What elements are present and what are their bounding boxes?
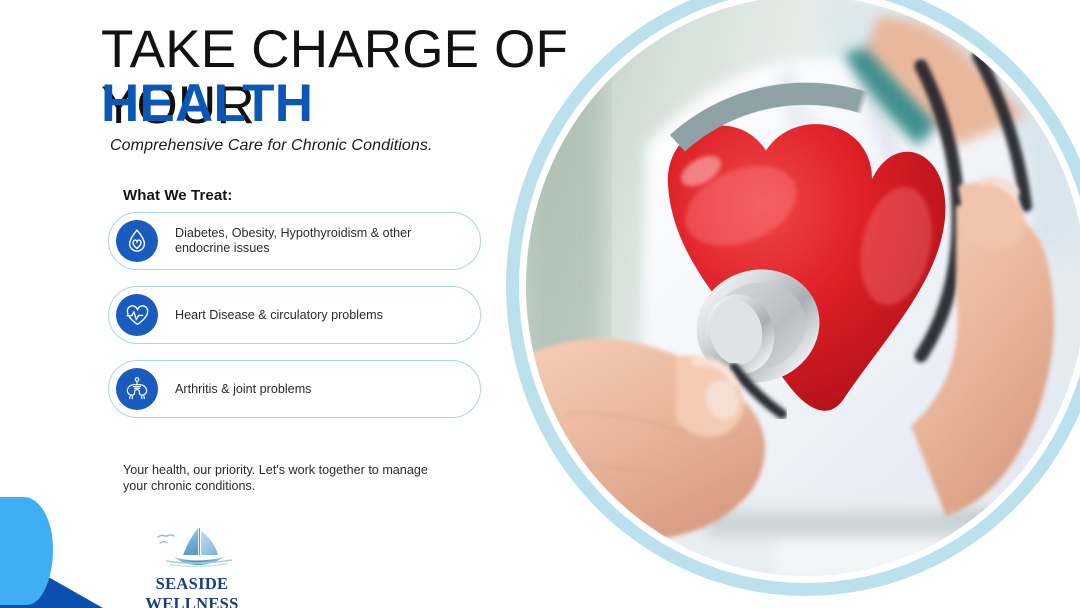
page-subtitle: Comprehensive Care for Chronic Condition… [110, 137, 433, 155]
page-title-line-2: HEALTH [101, 76, 313, 132]
list-item[interactable]: Diabetes, Obesity, Hypothyroidism & othe… [108, 212, 481, 270]
heart-pulse-icon [116, 294, 158, 336]
decorative-ring-grey-arc [524, 0, 1080, 578]
footer-note: Your health, our priority. Let's work to… [123, 462, 453, 494]
content-column: TAKE CHARGE OF YOUR HEALTH Comprehensive… [0, 0, 560, 608]
sailboat-icon [136, 524, 248, 572]
hero-image-group [486, 0, 1080, 608]
slide-canvas: TAKE CHARGE OF YOUR HEALTH Comprehensive… [0, 0, 1080, 608]
conditions-list: Diabetes, Obesity, Hypothyroidism & othe… [108, 212, 481, 434]
list-item[interactable]: Heart Disease & circulatory problems [108, 286, 481, 344]
list-item-label: Diabetes, Obesity, Hypothyroidism & othe… [175, 226, 466, 256]
list-item[interactable]: Arthritis & joint problems [108, 360, 481, 418]
brand-logo: SEASIDE WELLNESS OF SHALLOTTE [112, 524, 272, 608]
blood-drop-heart-icon [116, 220, 158, 262]
brand-name: SEASIDE WELLNESS [112, 574, 272, 608]
list-item-label: Arthritis & joint problems [175, 382, 311, 397]
hip-joint-icon [116, 368, 158, 410]
list-item-label: Heart Disease & circulatory problems [175, 308, 383, 323]
section-heading-what-we-treat: What We Treat: [123, 187, 232, 204]
